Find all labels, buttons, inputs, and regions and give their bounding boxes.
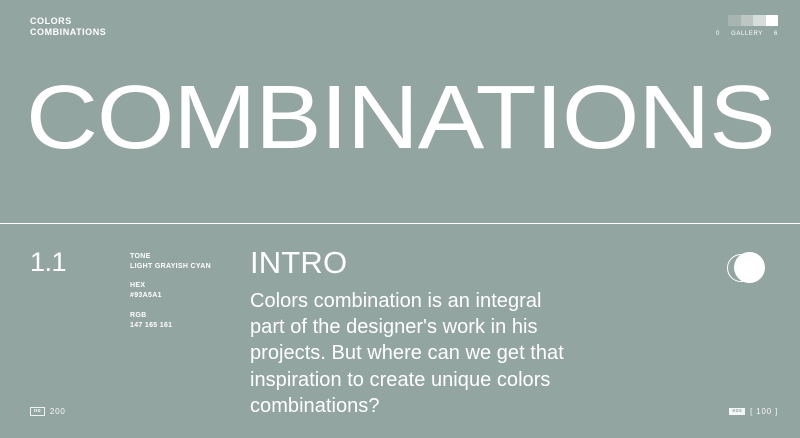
horizontal-divider: [0, 223, 800, 224]
meta-group-rgb: RGB 147 165 161: [130, 311, 211, 331]
circle-filled-icon: [734, 252, 765, 283]
section-number: 1.1: [30, 249, 66, 276]
hex-value: #93A5A1: [130, 291, 211, 301]
page-title: COMBINATIONS: [26, 76, 774, 162]
tone-value: LIGHT GRAYISH CYAN: [130, 262, 211, 272]
swatch-step-2: [728, 15, 740, 26]
swatch-step-3: [741, 15, 753, 26]
rgb-label: RGB: [130, 311, 211, 321]
meta-group-hex: HEX #93A5A1: [130, 281, 211, 301]
intro-block: INTRO Colors combination is an integral …: [250, 247, 580, 420]
swatch-step-1: [716, 15, 728, 26]
intro-heading: INTRO: [250, 247, 580, 280]
swatch-step-5: [766, 15, 778, 26]
brand-wordmark: COLORS COMBINATIONS: [30, 16, 106, 39]
gallery-left-index: 0: [716, 31, 720, 37]
footer-right-group: eos [ 100 ]: [729, 407, 778, 416]
tone-label: TONE: [130, 252, 211, 262]
rgb-value: 147 165 161: [130, 321, 211, 331]
meta-group-tone: TONE LIGHT GRAYISH CYAN: [130, 252, 211, 272]
hex-label: HEX: [130, 281, 211, 291]
footer-left-tag: no: [30, 407, 45, 416]
swatch-step-4: [753, 15, 765, 26]
hero-block: COMBINATIONS: [26, 64, 774, 174]
color-metadata: TONE LIGHT GRAYISH CYAN HEX #93A5A1 RGB …: [130, 252, 211, 331]
gallery-indicator[interactable]: 0 GALLERY 6: [716, 15, 778, 37]
intro-paragraph: Colors combination is an integral part o…: [250, 288, 580, 420]
gallery-label-row: 0 GALLERY 6: [716, 31, 778, 37]
swatch-gradient-bar: [716, 15, 778, 26]
circles-graphic: [727, 252, 771, 286]
gallery-right-index: 6: [774, 31, 778, 37]
footer-right-tag: eos: [729, 408, 745, 415]
footer-right-number: [ 100 ]: [750, 407, 778, 416]
poster-canvas: COLORS COMBINATIONS 0 GALLERY 6 COMBINAT…: [0, 0, 800, 438]
brand-line-1: COLORS: [30, 16, 106, 27]
footer-left-group: no 200: [30, 407, 66, 416]
gallery-label-text: GALLERY: [731, 31, 763, 37]
brand-line-2: COMBINATIONS: [30, 27, 106, 38]
footer-left-number: 200: [50, 407, 66, 416]
